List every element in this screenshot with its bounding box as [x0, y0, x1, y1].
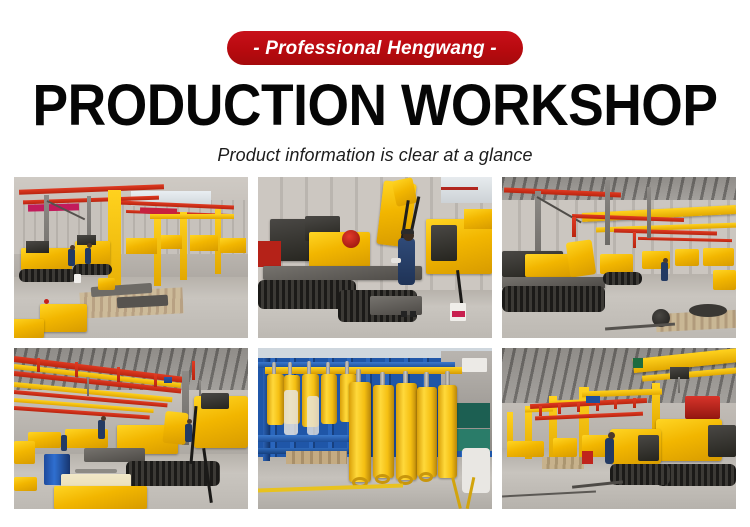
banner-header: - Professional Hengwang - PRODUCTION WOR…: [0, 0, 750, 166]
gallery-photo-6[interactable]: [502, 348, 736, 509]
gallery-photo-5[interactable]: [258, 348, 492, 509]
photo-gallery-grid: [14, 177, 736, 509]
brand-badge: - Professional Hengwang -: [227, 31, 523, 65]
page-subtitle: Product information is clear at a glance: [0, 144, 750, 166]
badge-row: - Professional Hengwang -: [0, 31, 750, 65]
gallery-photo-1[interactable]: [14, 177, 248, 338]
gallery-photo-4[interactable]: [14, 348, 248, 509]
gallery-photo-3[interactable]: [502, 177, 736, 338]
promo-banner: - Professional Hengwang - PRODUCTION WOR…: [0, 0, 750, 527]
page-title: PRODUCTION WORKSHOP: [30, 77, 720, 135]
gallery-photo-2[interactable]: [258, 177, 492, 338]
